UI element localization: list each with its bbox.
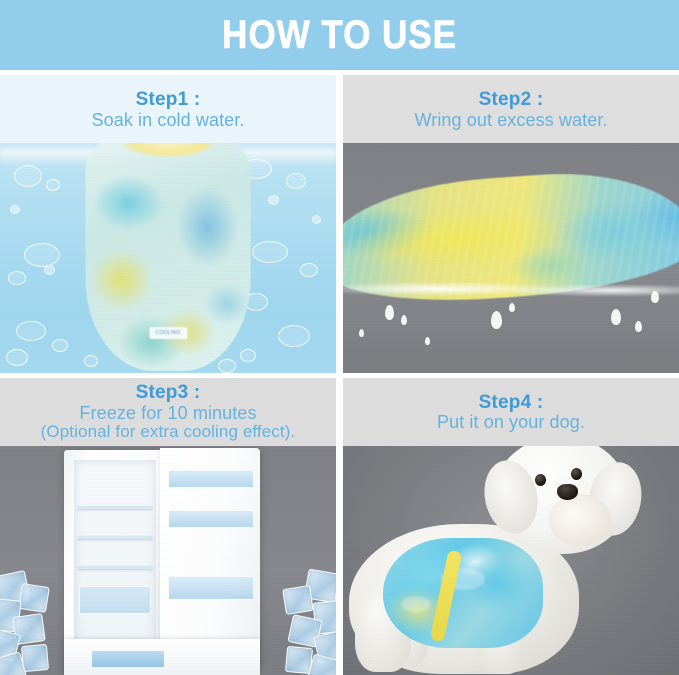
header-banner: HOW TO USE: [0, 0, 679, 70]
water-drop-icon: [425, 337, 430, 345]
step-panel-1: Step1 : Soak in cold water.: [0, 75, 336, 373]
water-drop-icon: [509, 303, 515, 312]
bubble-icon: [46, 179, 60, 191]
water-drop-icon: [491, 311, 502, 329]
dog-eye-right: [571, 468, 582, 480]
ice-cubes-right: [230, 569, 336, 675]
shirt-highlight: [401, 596, 431, 612]
step1-title: Step1 :: [136, 90, 201, 111]
bubble-icon: [16, 321, 46, 341]
step3-image: [0, 446, 336, 675]
step4-caption: Step4 : Put it on your dog.: [343, 378, 679, 446]
dog-muzzle: [549, 494, 611, 546]
bubble-icon: [218, 359, 236, 373]
step2-caption: Step2 : Wring out excess water.: [343, 75, 679, 143]
step-panel-3: Step3 : Freeze for 10 minutes (Optional …: [0, 378, 336, 675]
bubble-icon: [8, 271, 26, 285]
water-drop-icon: [611, 309, 621, 325]
bubble-icon: [24, 243, 60, 267]
bubble-icon: [300, 263, 318, 277]
water-drop-icon: [651, 291, 659, 303]
door-bin: [168, 510, 254, 528]
water-drop-icon: [401, 315, 407, 325]
fridge-shelf: [78, 506, 152, 509]
ice-cube-icon: [18, 583, 50, 613]
step2-image: [343, 143, 679, 373]
step4-title: Step4 :: [479, 393, 544, 414]
ice-cube-icon: [282, 585, 314, 615]
step1-caption: Step1 : Soak in cold water.: [0, 75, 336, 143]
product-tag: COOLING: [149, 327, 187, 339]
step4-line-1: Put it on your dog.: [437, 413, 585, 432]
step3-line-1: Freeze for 10 minutes: [79, 404, 256, 423]
steps-grid: Step1 : Soak in cold water.: [0, 70, 679, 675]
bubble-icon: [286, 173, 306, 189]
step3-line-2: (Optional for extra cooling effect).: [41, 423, 296, 441]
water-drop-icon: [385, 305, 394, 320]
bubble-icon: [6, 349, 28, 366]
bubble-icon: [14, 165, 42, 187]
step3-caption: Step3 : Freeze for 10 minutes (Optional …: [0, 378, 336, 446]
bubble-icon: [268, 195, 279, 205]
dog-eye-left: [535, 474, 546, 486]
bubble-icon: [84, 355, 98, 367]
step-panel-4: Step4 : Put it on your dog.: [343, 378, 679, 675]
bubble-icon: [10, 205, 20, 214]
step2-title: Step2 :: [479, 90, 544, 111]
step4-image: [343, 446, 679, 675]
bubble-icon: [252, 241, 288, 263]
bubble-icon: [52, 339, 68, 352]
step3-title: Step3 :: [136, 383, 201, 404]
fridge-shelf: [78, 536, 152, 539]
ice-cubes-left: [0, 569, 106, 675]
dog-nose: [557, 484, 578, 500]
step2-line-1: Wring out excess water.: [414, 111, 607, 130]
bubble-icon: [278, 325, 310, 347]
bubble-icon: [240, 349, 256, 362]
step-panel-2: Step2 : Wring out excess water.: [343, 75, 679, 373]
how-to-use-infographic: HOW TO USE Step1 : Soak in cold water.: [0, 0, 679, 675]
cooling-shirt: COOLING: [86, 143, 251, 371]
step1-line-1: Soak in cold water.: [92, 111, 245, 130]
door-bin: [168, 470, 254, 488]
page-title: HOW TO USE: [222, 15, 457, 55]
bubble-icon: [44, 265, 55, 275]
step1-image: COOLING: [0, 143, 336, 373]
dog-cooling-shirt: [383, 538, 543, 648]
ice-cube-icon: [21, 644, 49, 672]
water-drop-icon: [635, 321, 642, 332]
water-drop-icon: [359, 329, 364, 337]
bubble-icon: [312, 215, 321, 224]
